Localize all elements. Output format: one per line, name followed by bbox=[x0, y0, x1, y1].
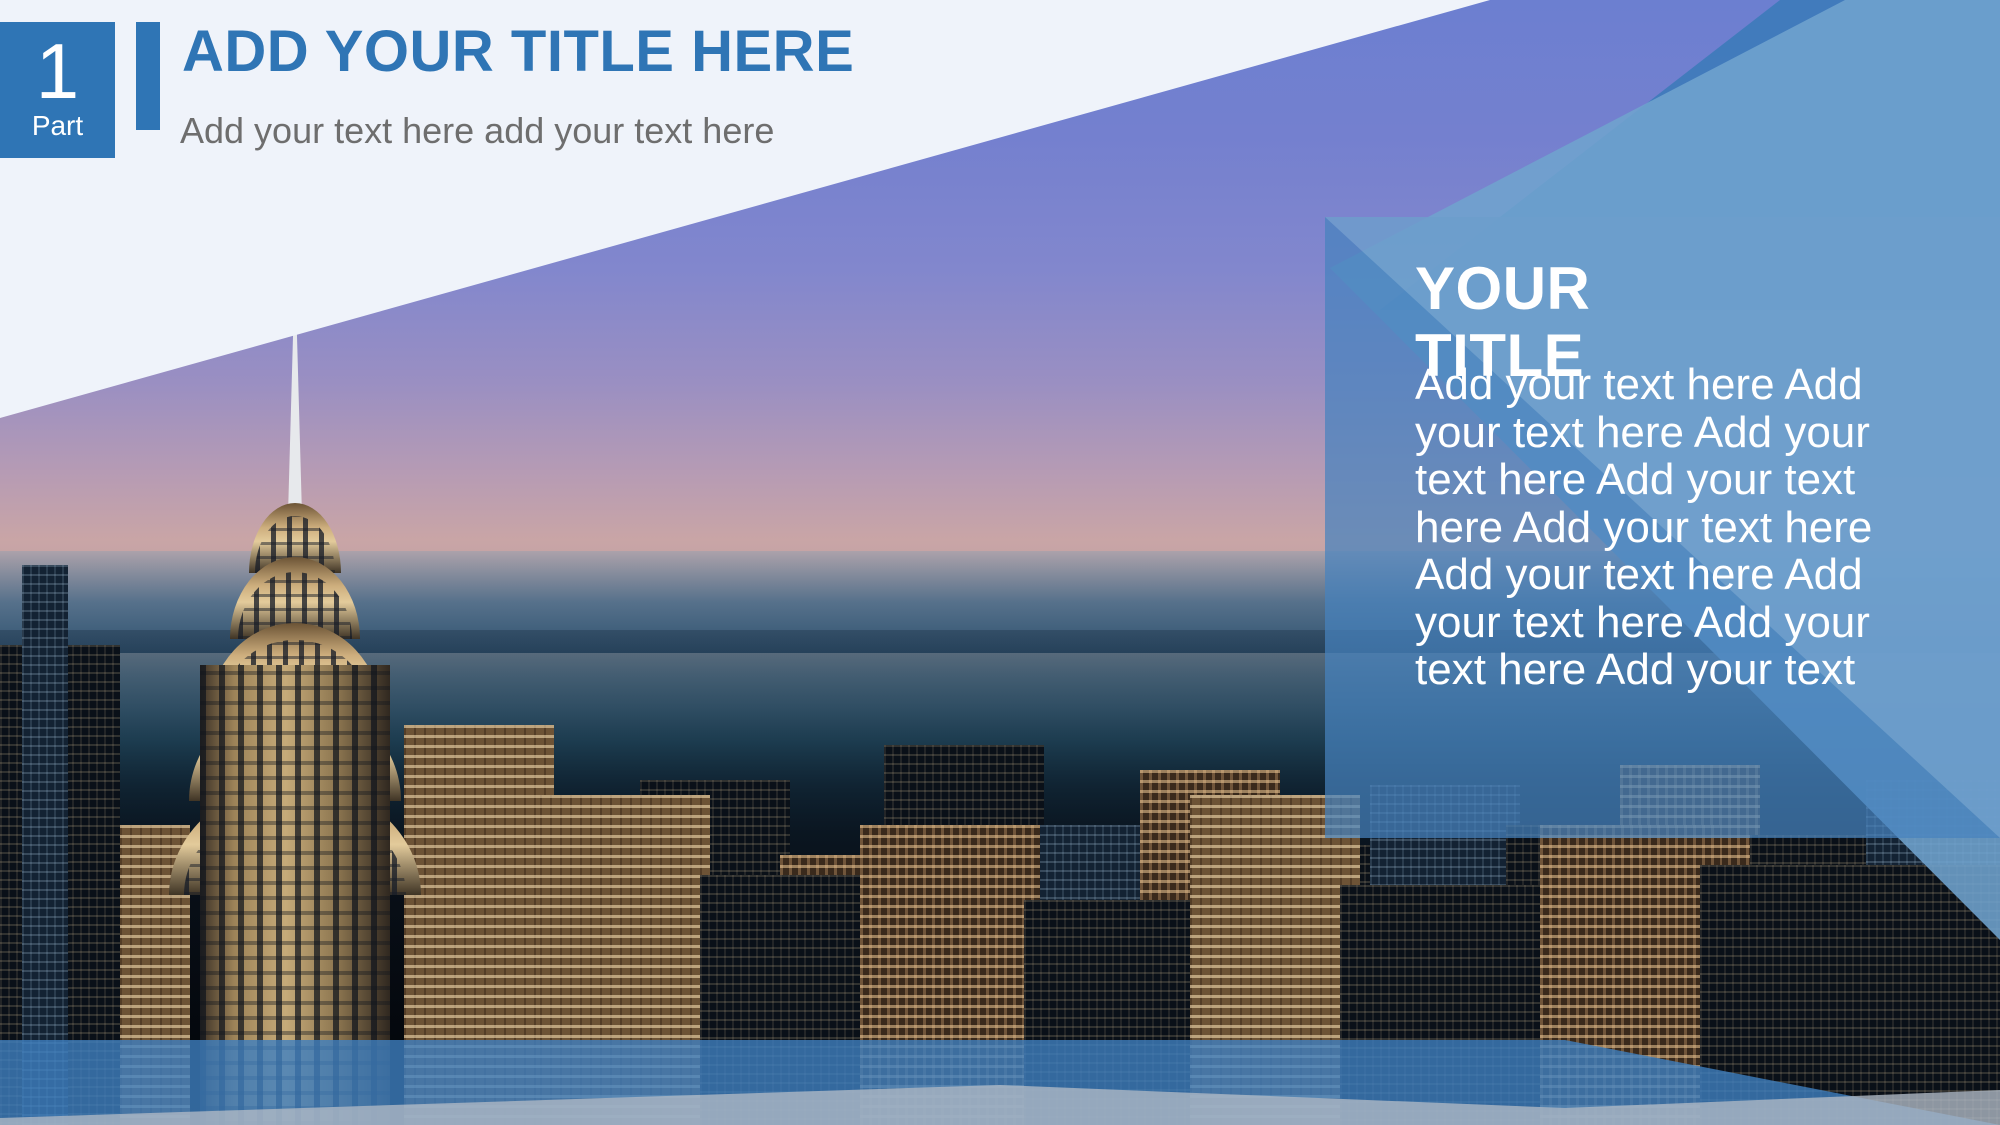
part-label: Part bbox=[32, 112, 83, 140]
part-number: 1 bbox=[36, 32, 79, 110]
page-subtitle: Add your text here add your text here bbox=[180, 110, 774, 152]
landmark-tower bbox=[130, 265, 460, 1125]
presentation-slide: YOUR TITLE Add your text here Add your t… bbox=[0, 0, 2000, 1125]
part-number-badge: 1 Part bbox=[0, 22, 115, 158]
header-accent-bar bbox=[136, 22, 160, 130]
page-title: ADD YOUR TITLE HERE bbox=[182, 22, 942, 81]
panel-text-block: YOUR TITLE Add your text here Add your t… bbox=[1415, 255, 1935, 389]
panel-body-text: Add your text here Add your text here Ad… bbox=[1415, 361, 1935, 694]
